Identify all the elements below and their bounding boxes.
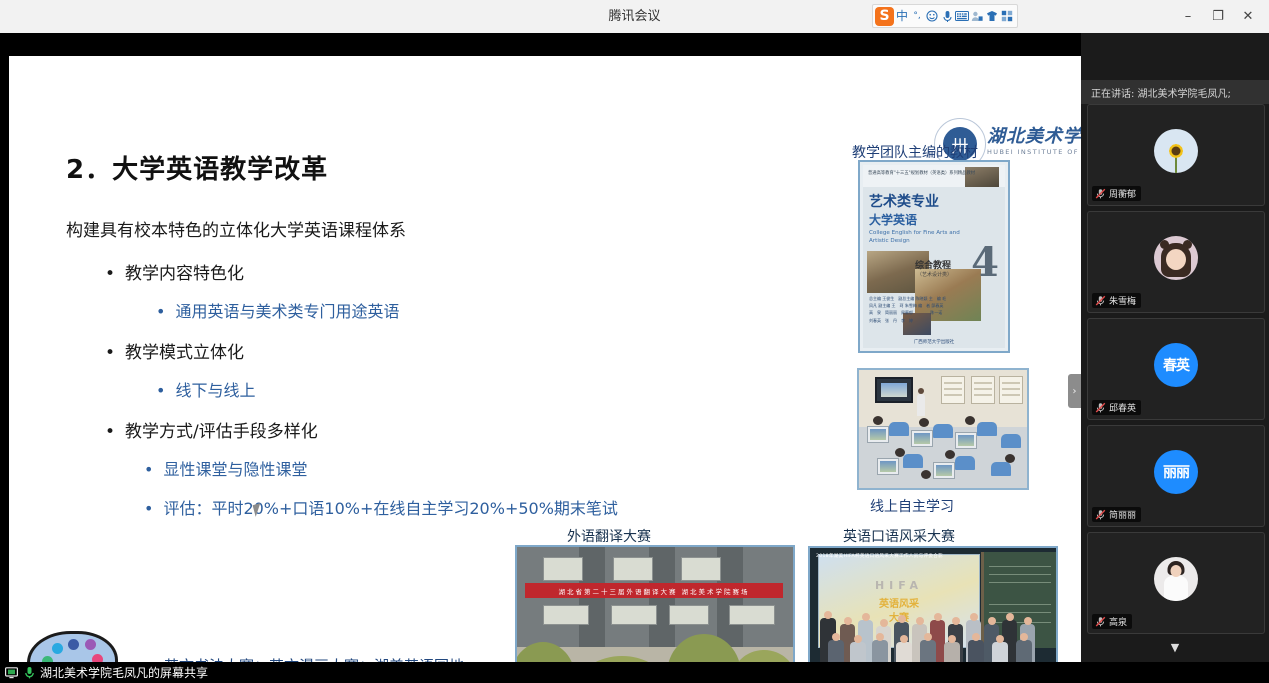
person [1016, 640, 1032, 662]
presentation-slide: 2．大学英语教学改革 构建具有校本特色的立体化大学英语课程体系 •教学内容特色化… [9, 56, 1081, 662]
textbook-series-text: 普通高等教育"十三五"规划教材（英语类）系列精品教材 [868, 170, 975, 176]
participant-name: 简丽丽 [1109, 508, 1136, 521]
lab-student-head [921, 470, 931, 479]
participant-name: 周蘅郁 [1109, 187, 1136, 200]
textbook-volume-number: 4 [971, 243, 999, 283]
projected-cn1: 英语风采 [819, 595, 979, 610]
avatar: 春英 [1154, 343, 1198, 387]
person [850, 642, 866, 662]
active-speaker-banner: 正在讲话: 湖北美术学院毛凤凡; [1081, 80, 1269, 104]
toolbox-icon[interactable] [1000, 7, 1014, 26]
minimize-button[interactable]: – [1173, 0, 1203, 33]
lab-student-head [1005, 454, 1015, 463]
lab-monitor [955, 432, 977, 449]
bullet-text: 显性课堂与隐性课堂 [163, 460, 307, 479]
sunflower-avatar-icon [1154, 129, 1198, 173]
palette-body [27, 631, 118, 662]
lab-window [999, 376, 1023, 404]
window-title: 腾讯会议 [0, 0, 1269, 33]
voice-input-icon[interactable] [940, 7, 954, 26]
skin-icon[interactable] [985, 7, 999, 26]
lab-student-head [895, 448, 905, 457]
maximize-button[interactable]: ❐ [1203, 0, 1233, 33]
caption-speech-contest: 英语口语风采大赛 [843, 526, 955, 546]
participant-name: 高泉 [1109, 615, 1127, 628]
lab-seat [991, 462, 1011, 476]
mic-muted-icon [1095, 295, 1106, 306]
lab-seat [955, 456, 975, 470]
participant-name: 朱雪梅 [1109, 294, 1136, 307]
slide-lead-text: 构建具有校本特色的立体化大学英语课程体系 [66, 216, 406, 241]
avatar [1154, 129, 1198, 173]
woman-photo-avatar-icon [1154, 557, 1198, 601]
user-dict-icon[interactable] [970, 7, 984, 26]
flower-head [1165, 140, 1187, 162]
page-title: 2．大学英语教学改革 [66, 149, 328, 186]
participants-panel: 正在讲话: 湖北美术学院毛凤凡; [1081, 33, 1269, 662]
textbook-inner: 普通高等教育"十三五"规划教材（英语类）系列精品教材 艺术类专业 大学英语 Co… [863, 165, 1005, 348]
participant-tiles: 周蘅郁 朱雪梅 [1081, 104, 1269, 642]
avatar-initials: 丽丽 [1163, 462, 1189, 482]
ime-punctuation-icon[interactable]: °, [910, 7, 924, 26]
bullet-text: 教学模式立体化 [125, 343, 244, 363]
textbook-publisher: 广西师范大学出版社 [863, 339, 1005, 345]
textbook-title-cn2: 大学英语 [869, 211, 917, 228]
bullet-level1: •教学方式/评估手段多样化 [105, 417, 318, 442]
photo-header-text: 2018年湖美HIFA杯英语口语风采大赛工作人员与评委合影 [816, 553, 943, 559]
textbook-subtitle2: （艺术设计类） [917, 271, 952, 278]
participant-name-badge: 邱春英 [1092, 400, 1141, 415]
participant-tile[interactable]: 春英 邱春英 [1087, 318, 1265, 420]
lab-teacher [917, 394, 925, 416]
bullet-marker: • [144, 499, 153, 518]
lab-monitor [877, 458, 899, 475]
window-controls: – ❐ ✕ [1173, 0, 1263, 33]
building-window [669, 605, 709, 625]
girl-photo-avatar-icon [1154, 236, 1198, 280]
bullet-marker: • [105, 343, 115, 363]
lab-seat [977, 422, 997, 436]
lab-seat [903, 454, 923, 468]
person [992, 642, 1008, 662]
bullet-level2: •通用英语与美术类专门用途英语 [156, 298, 399, 322]
mic-muted-icon [1095, 616, 1106, 627]
translation-contest-photo: 湖北省第二十三届外语翻译大赛 湖北美术学院赛场 [515, 545, 795, 662]
person [828, 640, 844, 662]
bullet-marker: • [144, 460, 153, 479]
paint-dot [85, 639, 96, 650]
emoji-icon[interactable] [925, 7, 939, 26]
lab-student-head [965, 416, 975, 425]
lab-seat [889, 422, 909, 436]
shared-screen-stage[interactable]: 2．大学英语教学改革 构建具有校本特色的立体化大学英语课程体系 •教学内容特色化… [0, 33, 1081, 662]
person [968, 640, 984, 662]
participant-name: 邱春英 [1109, 401, 1136, 414]
lab-student-head [945, 450, 955, 459]
bullet-level1: •教学模式立体化 [105, 338, 244, 363]
avatar [1154, 236, 1198, 280]
palette-logo-icon [21, 629, 116, 662]
participant-tile[interactable]: 周蘅郁 [1087, 104, 1265, 206]
online-learning-photo [857, 368, 1029, 490]
building-window [543, 557, 583, 581]
caption-online-learning: 线上自主学习 [870, 496, 954, 516]
person [896, 642, 912, 662]
bullet-level2: •线下与线上 [156, 377, 255, 401]
banner-text: 湖北省第二十三届外语翻译大赛 湖北美术学院赛场 [558, 586, 749, 596]
bullet-text: 教学方式/评估手段多样化 [125, 422, 318, 442]
participant-name-badge: 朱雪梅 [1092, 293, 1141, 308]
bullet-marker: • [105, 422, 115, 442]
lab-student-head [919, 418, 929, 427]
caption-translation-contest: 外语翻译大赛 [567, 526, 651, 546]
textbook-title-cn1: 艺术类专业 [869, 191, 939, 211]
building-window [729, 605, 775, 625]
ime-chinese-mode-icon[interactable]: 中 [895, 7, 909, 26]
person [944, 642, 960, 662]
participant-name-badge: 简丽丽 [1092, 507, 1141, 522]
slide-footer-text: 英文书法大赛；英文漫画大赛；湖美英语园地 [164, 655, 464, 662]
close-button[interactable]: ✕ [1233, 0, 1263, 33]
screen-share-icon [4, 666, 18, 680]
lab-student-head [873, 416, 883, 425]
bullet-level2: •显性课堂与隐性课堂 [144, 456, 307, 480]
sogou-ime-toolbar[interactable]: S 中 °, [872, 4, 1018, 28]
participant-name-badge: 高泉 [1092, 614, 1132, 629]
bullet-marker: • [156, 381, 165, 400]
bullet-text: 教学内容特色化 [125, 264, 244, 284]
school-name-cn: 湖北美术学院 [987, 122, 1081, 148]
bullet-text: 评估：平时20%+口语10%+在线自主学习20%+50%期末笔试 [163, 499, 617, 518]
panel-collapse-handle[interactable]: › [1068, 374, 1081, 408]
textbook-credits: 总主编 王俊生 副总主编 陈晓颖 主 编 毛凤凡 副主编 王 珂 朱雪梅 编 者… [869, 295, 949, 324]
lab-window [971, 376, 995, 404]
tencent-meeting-window: 腾讯会议 S 中 °, – ❐ [0, 0, 1269, 683]
participant-tile[interactable]: 朱雪梅 [1087, 211, 1265, 313]
lab-tv-screen [875, 377, 913, 403]
building-window [613, 557, 653, 581]
person [872, 640, 888, 662]
textbook-cover-image: 普通高等教育"十三五"规划教材（英语类）系列精品教材 艺术类专业 大学英语 Co… [858, 160, 1010, 353]
school-name-en: HUBEI INSTITUTE OF FINE ARTS [987, 148, 1081, 156]
mic-muted-icon [1095, 509, 1106, 520]
textbook-title-en: College English for Fine Arts and Artist… [869, 229, 979, 246]
lab-monitor [911, 430, 933, 447]
bullet-text: 线下与线上 [175, 381, 255, 400]
textbook-subtitle: 综合教程 [915, 258, 951, 271]
building-window [611, 605, 657, 625]
person [920, 640, 936, 662]
building-window [543, 605, 589, 625]
status-text: 湖北美术学院毛凤凡的屏幕共享 [40, 664, 208, 681]
avatar-initials: 春英 [1163, 355, 1189, 375]
mic-muted-icon [1095, 402, 1106, 413]
lab-seat [933, 424, 953, 438]
soft-keyboard-icon[interactable] [955, 7, 969, 26]
avatar: 丽丽 [1154, 450, 1198, 494]
bullet-text: 通用英语与美术类专门用途英语 [175, 302, 399, 321]
lab-monitor [933, 462, 955, 479]
sogou-logo-icon[interactable]: S [875, 7, 894, 26]
contest-banner: 湖北省第二十三届外语翻译大赛 湖北美术学院赛场 [525, 583, 783, 598]
paint-dot [68, 639, 79, 650]
mic-muted-icon [1095, 188, 1106, 199]
avatar [1154, 557, 1198, 601]
paint-dot [92, 654, 103, 662]
lab-seat [1001, 434, 1021, 448]
title-bar: 腾讯会议 S 中 °, – ❐ [0, 0, 1269, 34]
participant-name-badge: 周蘅郁 [1092, 186, 1141, 201]
participant-tile[interactable]: 高泉 [1087, 532, 1265, 634]
speech-contest-photo: HIFA 英语风采 大赛 2018年湖美HIFA杯英语口语风采大赛工作人员与评委… [808, 546, 1058, 662]
bullet-level2: •评估：平时20%+口语10%+在线自主学习20%+50%期末笔试 [144, 495, 618, 519]
scroll-down-button[interactable]: ▼ [1081, 641, 1269, 654]
status-bar: 湖北美术学院毛凤凡的屏幕共享 [0, 662, 1269, 683]
bullet-marker: • [105, 264, 115, 284]
participant-tile[interactable]: 丽丽 简丽丽 [1087, 425, 1265, 527]
bullet-marker: • [156, 302, 165, 321]
bullet-level1: •教学内容特色化 [105, 259, 244, 284]
lab-window [941, 376, 965, 404]
paint-dot [52, 643, 63, 654]
projected-title: HIFA [819, 579, 979, 592]
caption-textbook: 教学团队主编的教材 [852, 142, 978, 162]
building-window [681, 557, 721, 581]
lab-monitor [867, 426, 889, 443]
microphone-icon [22, 666, 36, 680]
